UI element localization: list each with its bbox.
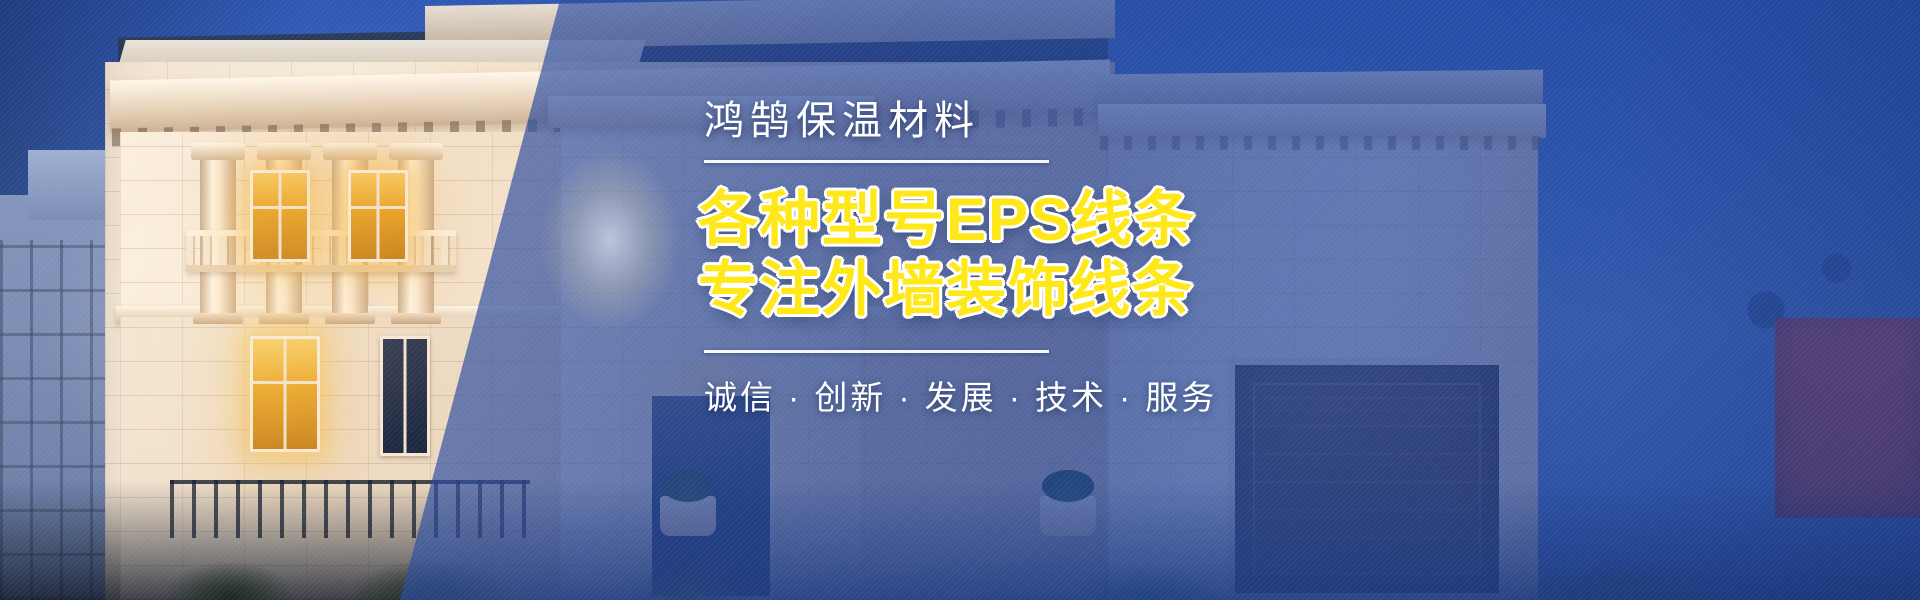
divider-bottom	[704, 350, 1049, 353]
divider-top	[704, 160, 1049, 163]
tagline: 诚信 · 创新 · 发展 · 技术 · 服务	[704, 371, 1450, 419]
brand-subtitle: 鸿鹄保温材料	[704, 96, 1450, 146]
promo-banner: 鸿鹄保温材料 各种型号EPS线条 专注外墙装饰线条 诚信 · 创新 · 发展 ·…	[0, 0, 1920, 600]
light-flare	[540, 150, 680, 330]
headline-line-1: 各种型号EPS线条	[698, 185, 1450, 255]
banner-text-block: 鸿鹄保温材料 各种型号EPS线条 专注外墙装饰线条 诚信 · 创新 · 发展 ·…	[690, 96, 1450, 419]
headline-line-2: 专注外墙装饰线条	[698, 255, 1450, 325]
headline: 各种型号EPS线条 专注外墙装饰线条	[698, 185, 1450, 324]
